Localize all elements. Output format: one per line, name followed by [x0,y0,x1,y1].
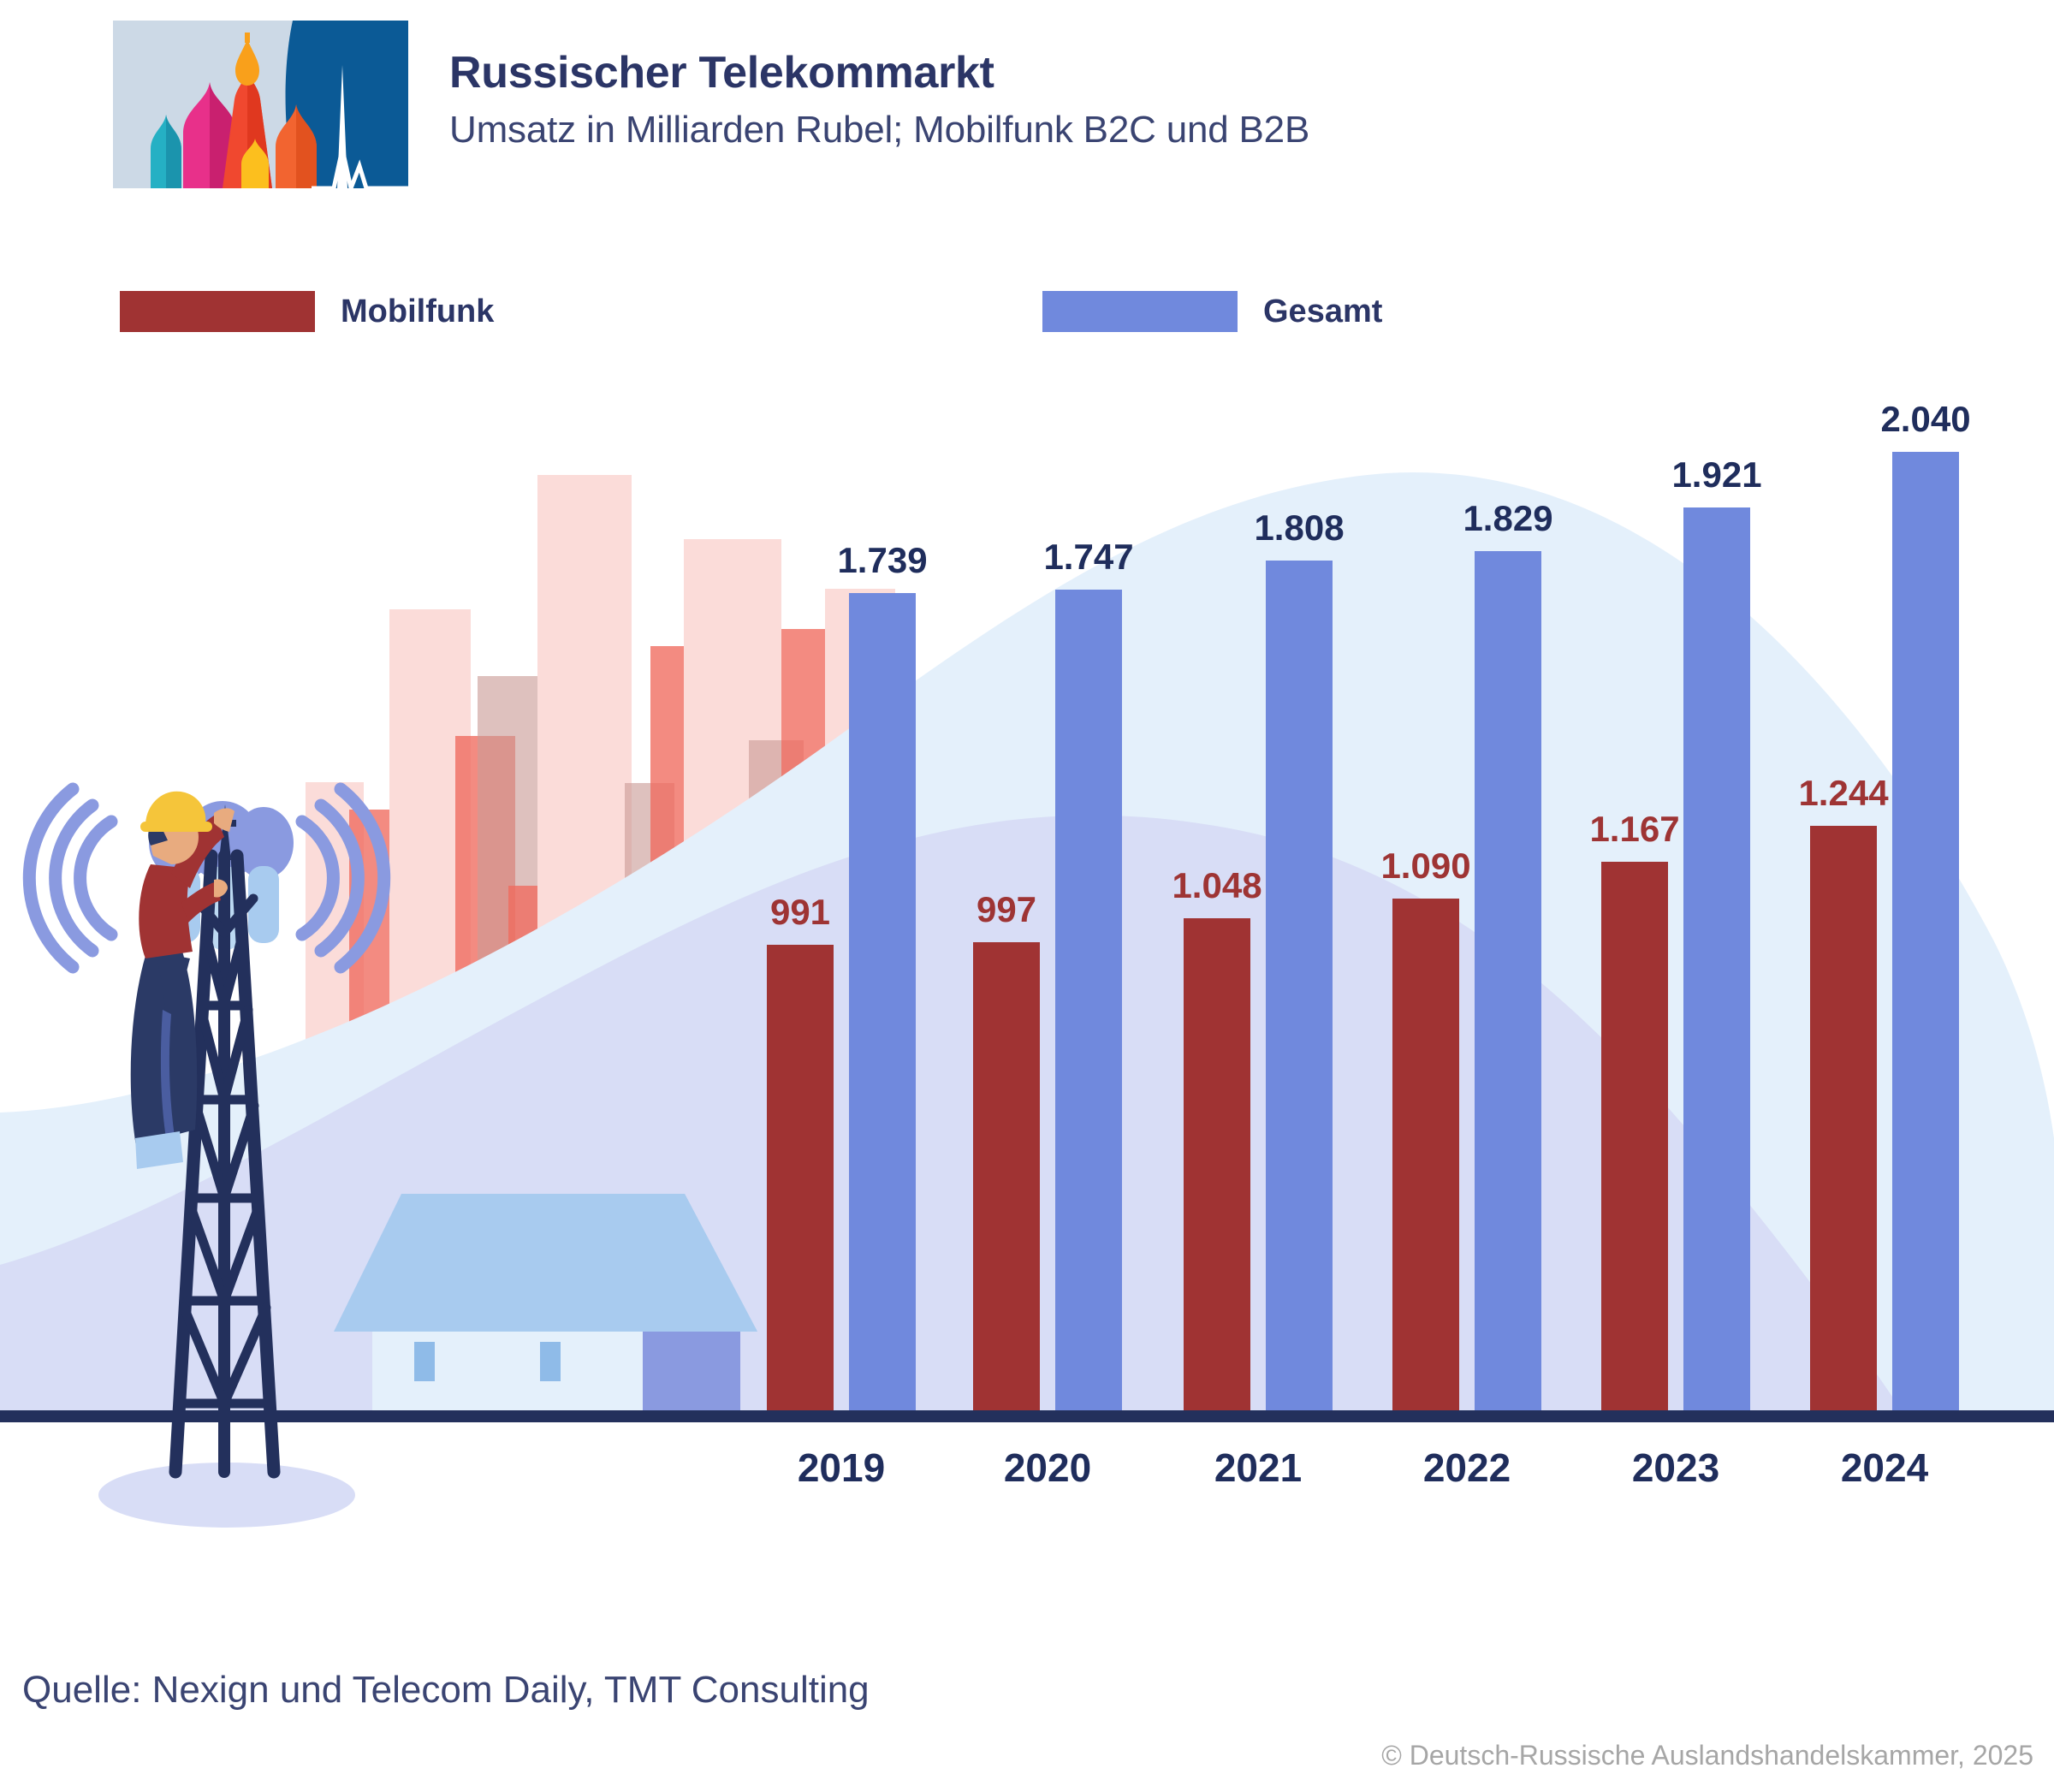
source-note: Quelle: Nexign und Telecom Daily, TMT Co… [22,1669,870,1712]
chart-legend: Mobilfunk Gesamt [120,291,1361,342]
page-title: Russischer Telekommarkt [449,50,1309,97]
signal-waves-left-icon [29,789,111,967]
ahk-russia-logo [113,21,408,188]
copyright-note: © Deutsch-Russische Auslandshandelskamme… [1381,1740,2033,1771]
page-subtitle: Umsatz in Milliarden Rubel; Mobilfunk B2… [449,109,1309,152]
header: Russischer Telekommarkt Umsatz in Millia… [113,21,1309,188]
legend-swatch-mobilfunk [120,291,315,332]
legend-item-mobilfunk[interactable]: Mobilfunk [120,291,494,332]
house-icon [334,1194,757,1421]
legend-label-mobilfunk: Mobilfunk [341,294,494,330]
legend-label-gesamt: Gesamt [1263,294,1382,330]
legend-item-gesamt[interactable]: Gesamt [1042,291,1382,332]
axis-baseline [0,1410,2054,1422]
legend-swatch-gesamt [1042,291,1238,332]
background-illustration [0,0,2054,1792]
